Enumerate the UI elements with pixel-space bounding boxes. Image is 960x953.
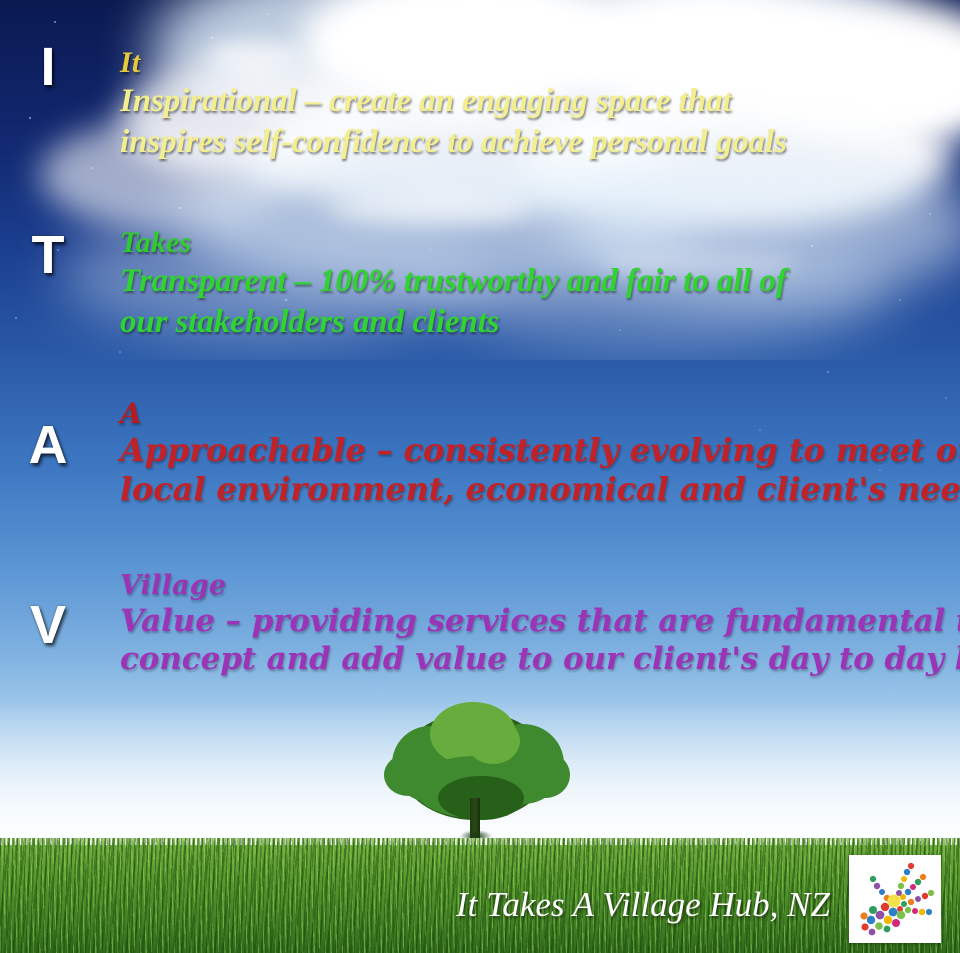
handprint-logo xyxy=(849,855,941,943)
line-value-1: Value – providing services that are fund… xyxy=(120,602,960,640)
heading-it: It xyxy=(120,48,960,79)
line-approachable-2: local environment, economical and client… xyxy=(120,470,960,510)
acrostic-letter-i: I xyxy=(8,40,88,94)
heading-village: Village xyxy=(120,572,960,600)
line-transparent-2: our stakeholders and clients xyxy=(120,302,960,343)
lone-tree xyxy=(378,700,578,842)
values-poster: I It Inspirational – create an engaging … xyxy=(0,0,960,953)
heading-a: A xyxy=(120,400,960,429)
acrostic-list: I It Inspirational – create an engaging … xyxy=(0,0,960,720)
line-approachable-1: Approachable – consistently evolving to … xyxy=(120,431,960,471)
line-value-2: concept and add value to our client's da… xyxy=(120,640,960,678)
footer-credit: It Takes A Village Hub, NZ xyxy=(340,885,830,925)
line-transparent-1: Transparent – 100% trustworthy and fair … xyxy=(120,261,960,302)
acrostic-letter-v: V xyxy=(8,598,88,652)
acrostic-letter-a: A xyxy=(8,418,88,472)
line-inspirational-2: inspires self-confidence to achieve pers… xyxy=(120,122,960,163)
acrostic-letter-t: T xyxy=(8,228,88,282)
handprint-icon xyxy=(849,855,941,943)
line-inspirational-1: Inspirational – create an engaging space… xyxy=(120,81,960,122)
heading-takes: Takes xyxy=(120,228,960,259)
